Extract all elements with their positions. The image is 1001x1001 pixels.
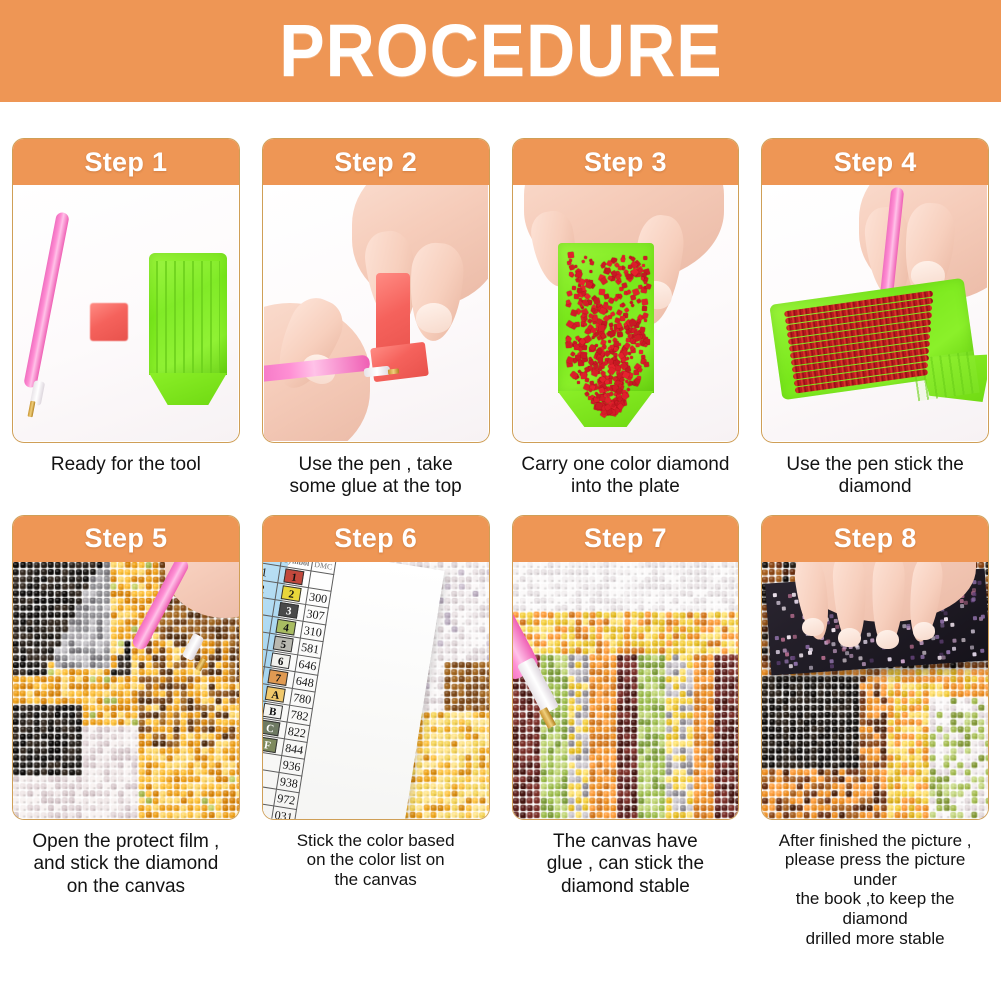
color-swatch: 1 <box>284 568 305 585</box>
step-8-title: Step 8 <box>834 523 917 554</box>
step-5-photo <box>13 562 239 819</box>
step-8-caption: After finished the picture , please pres… <box>761 831 989 948</box>
step-7-card-frame: Step 7 <box>512 515 740 820</box>
step-1-title: Step 1 <box>84 147 167 178</box>
color-swatch: 6 <box>270 652 291 669</box>
color-swatch: 4 <box>276 618 297 635</box>
step-6-caption: Stick the color based on the color list … <box>262 831 490 890</box>
step-6-photo: SymbolSymbolDMC1122300333074431055581666… <box>263 562 489 819</box>
step-3-card-frame: Step 3 <box>512 138 740 443</box>
color-swatch: A <box>265 685 286 702</box>
color-swatch: 3 <box>278 601 299 618</box>
page-title: PROCEDURE <box>279 14 722 88</box>
step-6-header: Step 6 <box>263 516 489 562</box>
step-7-caption: The canvas have glue , can stick the dia… <box>512 831 740 898</box>
step-card-2[interactable]: Step 2 <box>262 138 490 499</box>
step-card-6[interactable]: Step 6 SymbolSymbolDMC112230033307443105… <box>262 515 490 948</box>
step-2-title: Step 2 <box>334 147 417 178</box>
step-8-header: Step 8 <box>762 516 988 562</box>
step-card-8[interactable]: Step 8 <box>761 515 989 948</box>
step-1-card-frame: Step 1 <box>12 138 240 443</box>
step-8-card-frame: Step 8 <box>761 515 989 820</box>
step-6-card-frame: Step 6 SymbolSymbolDMC112230033307443105… <box>262 515 490 820</box>
step-card-7[interactable]: Step 7 The canvas have glue , can stick … <box>512 515 740 948</box>
step-5-title: Step 5 <box>84 523 167 554</box>
step-card-5[interactable]: Step 5 Open the protect film , and stick… <box>12 515 240 948</box>
step-3-header: Step 3 <box>513 139 739 185</box>
step-5-card-frame: Step 5 <box>12 515 240 820</box>
step-3-photo <box>514 185 738 441</box>
step-2-caption: Use the pen , take some glue at the top <box>262 454 490 499</box>
step-8-photo <box>762 562 988 819</box>
step-2-header: Step 2 <box>263 139 489 185</box>
step-card-4[interactable]: Step 4 <box>761 138 989 499</box>
color-swatch: F <box>263 736 278 753</box>
step-4-photo <box>763 185 987 441</box>
step-1-caption: Ready for the tool <box>12 454 240 476</box>
color-swatch: B <box>263 702 283 719</box>
step-card-3[interactable]: Step 3 Carry one colo <box>512 138 740 499</box>
steps-grid: Step 1 R <box>12 138 989 948</box>
step-1-photo <box>14 185 238 441</box>
color-swatch: 2 <box>281 585 302 602</box>
step-card-1[interactable]: Step 1 R <box>12 138 240 499</box>
color-swatch: C <box>263 719 281 736</box>
step-1-header: Step 1 <box>13 139 239 185</box>
step-4-caption: Use the pen stick the diamond <box>761 454 989 499</box>
step-4-header: Step 4 <box>762 139 988 185</box>
step-2-photo <box>264 185 488 441</box>
step-5-caption: Open the protect film , and stick the di… <box>12 831 240 898</box>
step-7-photo <box>513 562 739 819</box>
step-5-header: Step 5 <box>13 516 239 562</box>
step-3-title: Step 3 <box>584 147 667 178</box>
step-2-card-frame: Step 2 <box>262 138 490 443</box>
step-4-card-frame: Step 4 <box>761 138 989 443</box>
color-swatch: 7 <box>268 669 289 686</box>
page-header-banner: PROCEDURE <box>0 0 1001 102</box>
step-3-caption: Carry one color diamond into the plate <box>512 454 740 499</box>
step-7-title: Step 7 <box>584 523 667 554</box>
color-swatch: 5 <box>273 635 294 652</box>
step-7-header: Step 7 <box>513 516 739 562</box>
step-4-title: Step 4 <box>834 147 917 178</box>
step-6-title: Step 6 <box>334 523 417 554</box>
